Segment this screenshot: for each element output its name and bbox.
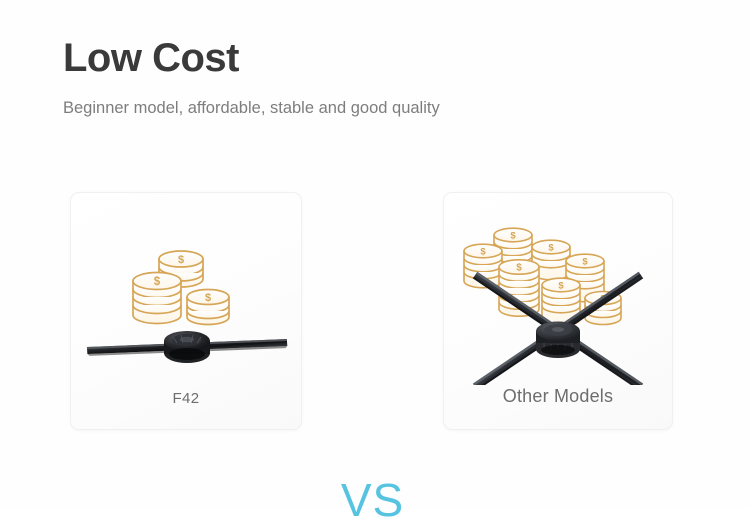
- fan-hub: [536, 322, 580, 359]
- other-models-figure: $ $: [444, 193, 672, 385]
- svg-text:$: $: [510, 231, 516, 242]
- other-models-illustration: $ $: [444, 193, 674, 385]
- comparison-card-other-models[interactable]: $ $: [443, 192, 673, 430]
- slide-root: Low Cost Beginner model, affordable, sta…: [0, 0, 750, 508]
- fan-hub: [164, 331, 210, 363]
- hologram-fan-2-blade-icon: [87, 331, 288, 363]
- card-label-f42: F42: [71, 390, 301, 407]
- coin-stack-right: $: [187, 290, 229, 325]
- svg-text:$: $: [582, 257, 588, 268]
- f42-illustration: $ $: [71, 193, 303, 385]
- coin-stacks-large-icon: $ $: [464, 228, 621, 326]
- comparison-section: $ $: [0, 192, 750, 432]
- svg-text:$: $: [516, 263, 522, 274]
- svg-text:$: $: [154, 276, 161, 288]
- coin-stacks-small-icon: $ $: [133, 251, 229, 325]
- coin-stack-left: $: [133, 273, 181, 324]
- comparison-card-f42[interactable]: $ $: [70, 192, 302, 430]
- vs-separator: VS: [302, 472, 443, 528]
- f42-figure: $ $: [71, 193, 301, 385]
- svg-text:$: $: [480, 247, 486, 258]
- svg-text:$: $: [178, 254, 184, 266]
- page-title: Low Cost: [63, 34, 703, 82]
- svg-text:$: $: [205, 292, 211, 304]
- card-label-other-models: Other Models: [444, 386, 672, 407]
- svg-text:$: $: [548, 243, 554, 254]
- page-subtitle: Beginner model, affordable, stable and g…: [63, 96, 703, 120]
- header: Low Cost Beginner model, affordable, sta…: [63, 34, 703, 120]
- svg-text:$: $: [558, 281, 564, 292]
